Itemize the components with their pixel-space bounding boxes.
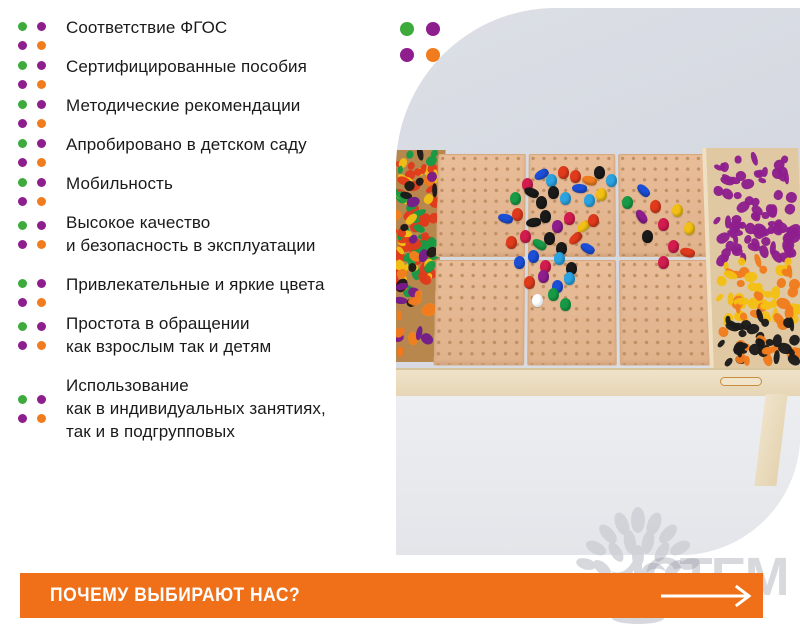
peg-piece	[727, 292, 733, 305]
photo-floor	[396, 386, 800, 555]
peg-piece	[650, 200, 661, 213]
dot-purple	[37, 178, 46, 187]
peg-piece	[558, 166, 569, 179]
peg-piece	[572, 183, 588, 193]
peg-piece	[532, 294, 543, 307]
peg-piece	[512, 208, 523, 221]
peg-piece	[397, 347, 404, 357]
dot-purple	[18, 240, 27, 249]
dot-orange	[426, 48, 440, 62]
dot-purple	[400, 48, 414, 62]
peg-piece	[548, 288, 559, 301]
corner-dot-cluster	[400, 22, 444, 66]
peg-piece	[672, 204, 683, 217]
dot-purple	[18, 158, 27, 167]
peg-piece	[788, 317, 795, 332]
dot-green	[18, 139, 27, 148]
dot-green	[18, 279, 27, 288]
peg-piece	[743, 356, 750, 366]
peg-band	[716, 313, 800, 369]
peg-piece	[415, 177, 424, 187]
peg-piece	[712, 215, 722, 225]
peg-piece	[536, 196, 547, 209]
peg-piece	[658, 218, 669, 231]
dot-purple	[37, 61, 46, 70]
dot-purple	[37, 139, 46, 148]
dot-green	[18, 178, 27, 187]
peg-piece	[622, 196, 633, 209]
dot-orange	[37, 80, 46, 89]
dot-green	[18, 395, 27, 404]
peg-piece	[750, 152, 760, 167]
peg-piece	[579, 241, 596, 256]
peg-piece	[725, 215, 731, 228]
peg-piece	[396, 210, 402, 221]
product-photo-panel	[396, 8, 800, 555]
feature-label: Простота в обращении как взрослым так и …	[66, 314, 271, 356]
peg-piece	[560, 298, 571, 311]
peg-piece	[642, 230, 653, 243]
wooden-play-table	[396, 146, 800, 406]
dot-purple	[18, 197, 27, 206]
peg-piece	[679, 246, 696, 258]
dot-purple	[37, 395, 46, 404]
peg-piece	[634, 208, 650, 225]
peg-piece	[528, 250, 539, 263]
dot-orange	[37, 41, 46, 50]
dot-orange	[37, 158, 46, 167]
dot-green	[18, 22, 27, 31]
peg-piece	[764, 291, 772, 298]
peg-piece	[538, 270, 549, 283]
dot-green	[18, 61, 27, 70]
dot-orange	[37, 298, 46, 307]
peg-piece	[723, 356, 734, 368]
bullet-dot-grid	[18, 395, 48, 425]
peg-piece	[738, 258, 746, 266]
peg-piece	[554, 252, 565, 265]
feature-item: Апробировано в детском саду	[18, 133, 396, 156]
peg-piece	[785, 191, 798, 204]
feature-item: Привлекательные и яркие цвета	[18, 273, 396, 296]
feature-label: Апробировано в детском саду	[66, 135, 307, 154]
peg-piece	[757, 178, 766, 185]
peg-piece	[606, 174, 617, 187]
feature-label: Соответствие ФГОС	[66, 18, 227, 37]
feature-item: Высокое качество и безопасность в эксплу…	[18, 211, 396, 257]
peg-piece	[564, 212, 575, 225]
dot-purple	[37, 322, 46, 331]
feature-label: Методические рекомендации	[66, 96, 300, 115]
peg-piece	[635, 182, 652, 199]
bullet-dot-grid	[18, 221, 48, 251]
dot-green	[18, 221, 27, 230]
dot-purple	[18, 341, 27, 350]
dot-green	[18, 100, 27, 109]
peg-piece	[570, 170, 581, 183]
peg-piece	[715, 293, 725, 303]
manufacturer-plate	[720, 377, 762, 386]
peg-piece	[584, 194, 595, 207]
peg-piece	[734, 156, 742, 164]
dot-orange	[37, 240, 46, 249]
feature-item: Мобильность	[18, 172, 396, 195]
dot-orange	[37, 341, 46, 350]
dot-purple	[426, 22, 440, 36]
peg-piece	[588, 214, 599, 227]
peg-piece	[783, 202, 797, 217]
scattered-pegs	[436, 152, 708, 364]
peg-piece	[766, 338, 774, 345]
feature-label: Мобильность	[66, 174, 173, 193]
peg-piece	[761, 166, 768, 177]
dot-green	[400, 22, 414, 36]
peg-piece	[514, 256, 525, 269]
dot-green	[18, 322, 27, 331]
peg-piece	[416, 150, 425, 161]
dot-purple	[37, 221, 46, 230]
peg-piece	[540, 210, 551, 223]
dot-purple	[18, 41, 27, 50]
feature-item: Методические рекомендации	[18, 94, 396, 117]
cta-label: ПОЧЕМУ ВЫБИРАЮТ НАС?	[50, 585, 300, 607]
cta-bar[interactable]: ПОЧЕМУ ВЫБИРАЮТ НАС?	[20, 573, 763, 618]
peg-piece	[548, 186, 559, 199]
peg-piece	[740, 178, 755, 192]
feature-label: Использование как в индивидуальных занят…	[66, 376, 326, 441]
dot-purple	[18, 80, 27, 89]
arrow-right-icon[interactable]	[659, 585, 755, 607]
peg-piece	[525, 217, 541, 228]
promo-slide: Соответствие ФГОССертифицированные пособ…	[0, 0, 800, 640]
peg-piece	[736, 279, 746, 288]
bullet-dot-grid	[18, 100, 48, 130]
feature-label: Привлекательные и яркие цвета	[66, 275, 325, 294]
feature-label: Сертифицированные пособия	[66, 57, 307, 76]
dot-purple	[18, 414, 27, 423]
peg-band	[710, 156, 800, 266]
feature-item: Простота в обращении как взрослым так и …	[18, 312, 396, 358]
peg-piece	[524, 276, 535, 289]
dot-orange	[37, 197, 46, 206]
peg-piece	[520, 230, 531, 243]
peg-piece	[506, 236, 517, 249]
peg-piece	[546, 174, 557, 187]
peg-piece	[772, 188, 785, 202]
bullet-dot-grid	[18, 178, 48, 208]
dot-purple	[37, 22, 46, 31]
peg-piece	[668, 240, 679, 253]
peg-piece	[658, 256, 669, 269]
peg-piece	[684, 222, 695, 235]
peg-piece	[396, 310, 402, 321]
feature-item: Сертифицированные пособия	[18, 55, 396, 78]
bullet-dot-grid	[18, 279, 48, 309]
peg-piece	[564, 272, 575, 285]
bullet-dot-grid	[18, 322, 48, 352]
dot-purple	[37, 279, 46, 288]
peg-piece	[510, 192, 521, 205]
peg-piece	[733, 192, 743, 201]
dot-orange	[37, 119, 46, 128]
dot-purple	[37, 100, 46, 109]
peg-piece	[717, 339, 727, 349]
feature-item: Соответствие ФГОС	[18, 16, 396, 39]
peg-piece	[596, 188, 607, 201]
peg-piece	[594, 166, 605, 179]
peg-piece	[560, 192, 571, 205]
dot-purple	[18, 119, 27, 128]
peg-piece	[552, 220, 563, 233]
feature-list: Соответствие ФГОССертифицированные пособ…	[0, 0, 396, 560]
dot-purple	[18, 298, 27, 307]
peg-piece	[544, 232, 555, 245]
feature-label: Высокое качество и безопасность в эксплу…	[66, 213, 316, 255]
storage-bin-right	[702, 148, 800, 370]
feature-item: Использование как в индивидуальных занят…	[18, 374, 396, 443]
dot-orange	[37, 414, 46, 423]
bullet-dot-grid	[18, 61, 48, 91]
peg-piece	[406, 150, 414, 158]
peg-piece	[720, 161, 730, 173]
bullet-dot-grid	[18, 22, 48, 52]
bullet-dot-grid	[18, 139, 48, 169]
